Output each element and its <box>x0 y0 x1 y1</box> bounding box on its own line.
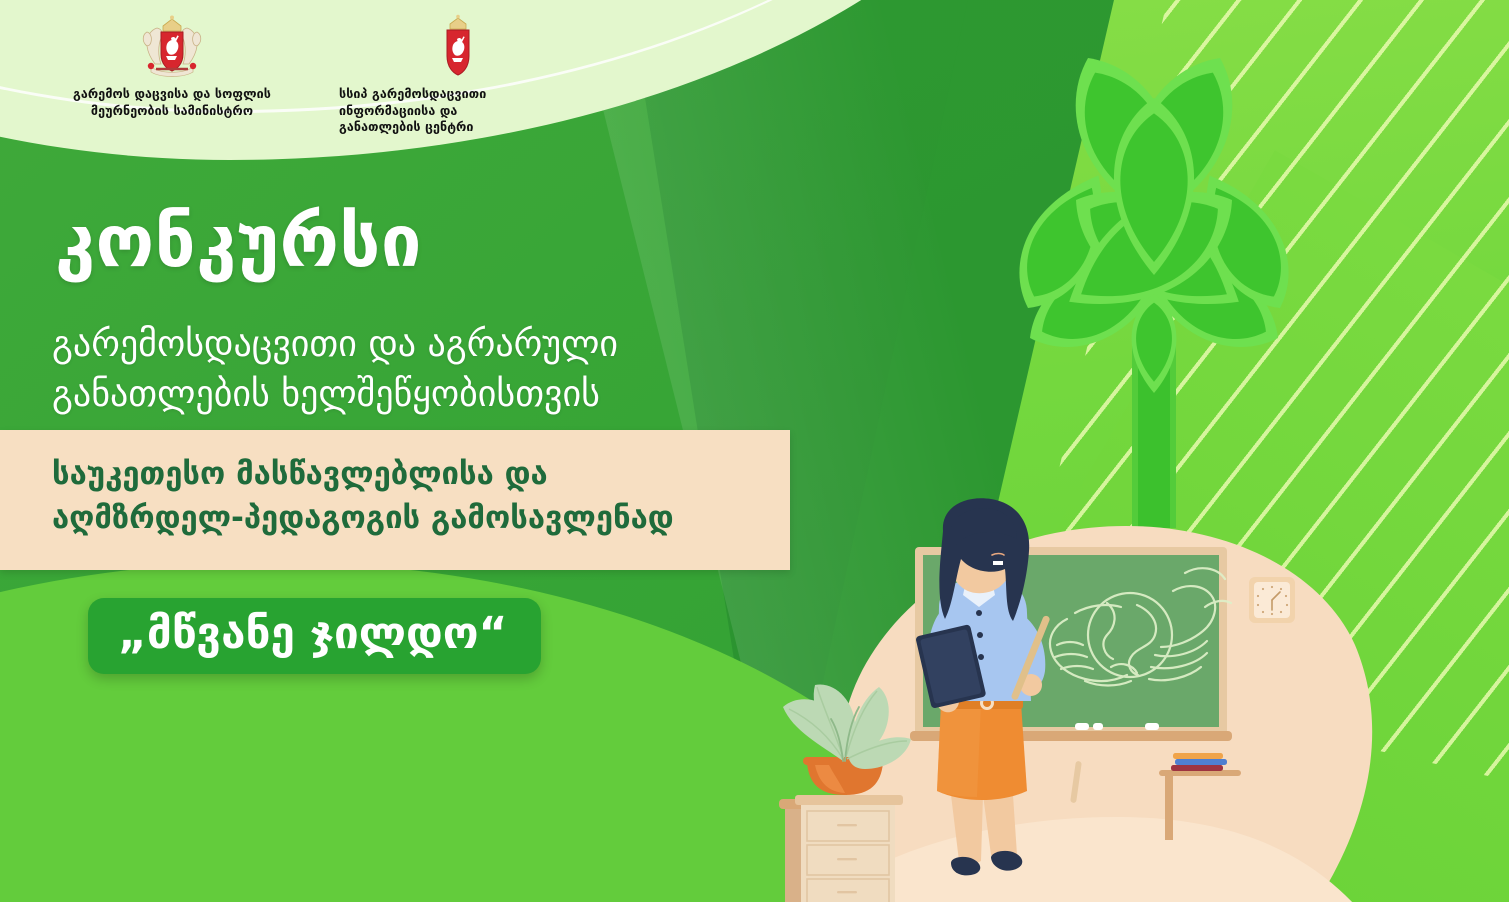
logo-center: სსიპ გარემოსდაცვითი ინფორმაციისა და განა… <box>333 14 583 136</box>
logo-center-line2: ინფორმაციისა და <box>339 103 583 120</box>
highlight-band-text: საუკეთესო მასწავლებლისა და აღმზრდელ-პედა… <box>0 430 790 540</box>
header-logos: გარემოს დაცვისა და სოფლის მეურნეობის სამ… <box>0 0 760 150</box>
logo-center-caption: სსიპ გარემოსდაცვითი ინფორმაციისა და განა… <box>333 86 583 136</box>
nfa-shield-emblem-icon <box>435 14 481 80</box>
band-line-2: აღმზრდელ-პედაგოგის გამოსავლენად <box>52 496 790 540</box>
band-line-1: საუკეთესო მასწავლებლისა და <box>52 452 790 496</box>
highlight-band: საუკეთესო მასწავლებლისა და აღმზრდელ-პედა… <box>0 430 790 570</box>
page-subtitle: გარემოსდაცვითი და აგრარული განათლების ხე… <box>52 320 618 419</box>
page-title: კონკურსი <box>55 205 422 277</box>
logo-ministry-line1: გარემოს დაცვისა და სოფლის <box>52 86 292 103</box>
logo-center-line3: განათლების ცენტრი <box>339 119 583 136</box>
award-name-label: „მწვანე ჯილდო“ <box>118 608 507 659</box>
subtitle-line-2: განათლების ხელშეწყობისთვის <box>52 370 618 420</box>
logo-ministry-caption: გარემოს დაცვისა და სოფლის მეურნეობის სამ… <box>52 86 292 119</box>
subtitle-line-1: გარემოსდაცვითი და აგრარული <box>52 320 618 370</box>
classroom-illustration <box>755 495 1395 902</box>
stylized-tree-icon <box>880 8 1509 528</box>
georgia-coat-of-arms-icon <box>141 14 203 80</box>
logo-center-line1: სსიპ გარემოსდაცვითი <box>339 86 583 103</box>
logo-ministry-line2: მეურნეობის სამინისტრო <box>52 103 292 120</box>
poster-canvas: გარემოს დაცვისა და სოფლის მეურნეობის სამ… <box>0 0 1509 902</box>
award-name-pill: „მწვანე ჯილდო“ <box>88 598 541 674</box>
logo-ministry: გარემოს დაცვისა და სოფლის მეურნეობის სამ… <box>52 14 292 119</box>
